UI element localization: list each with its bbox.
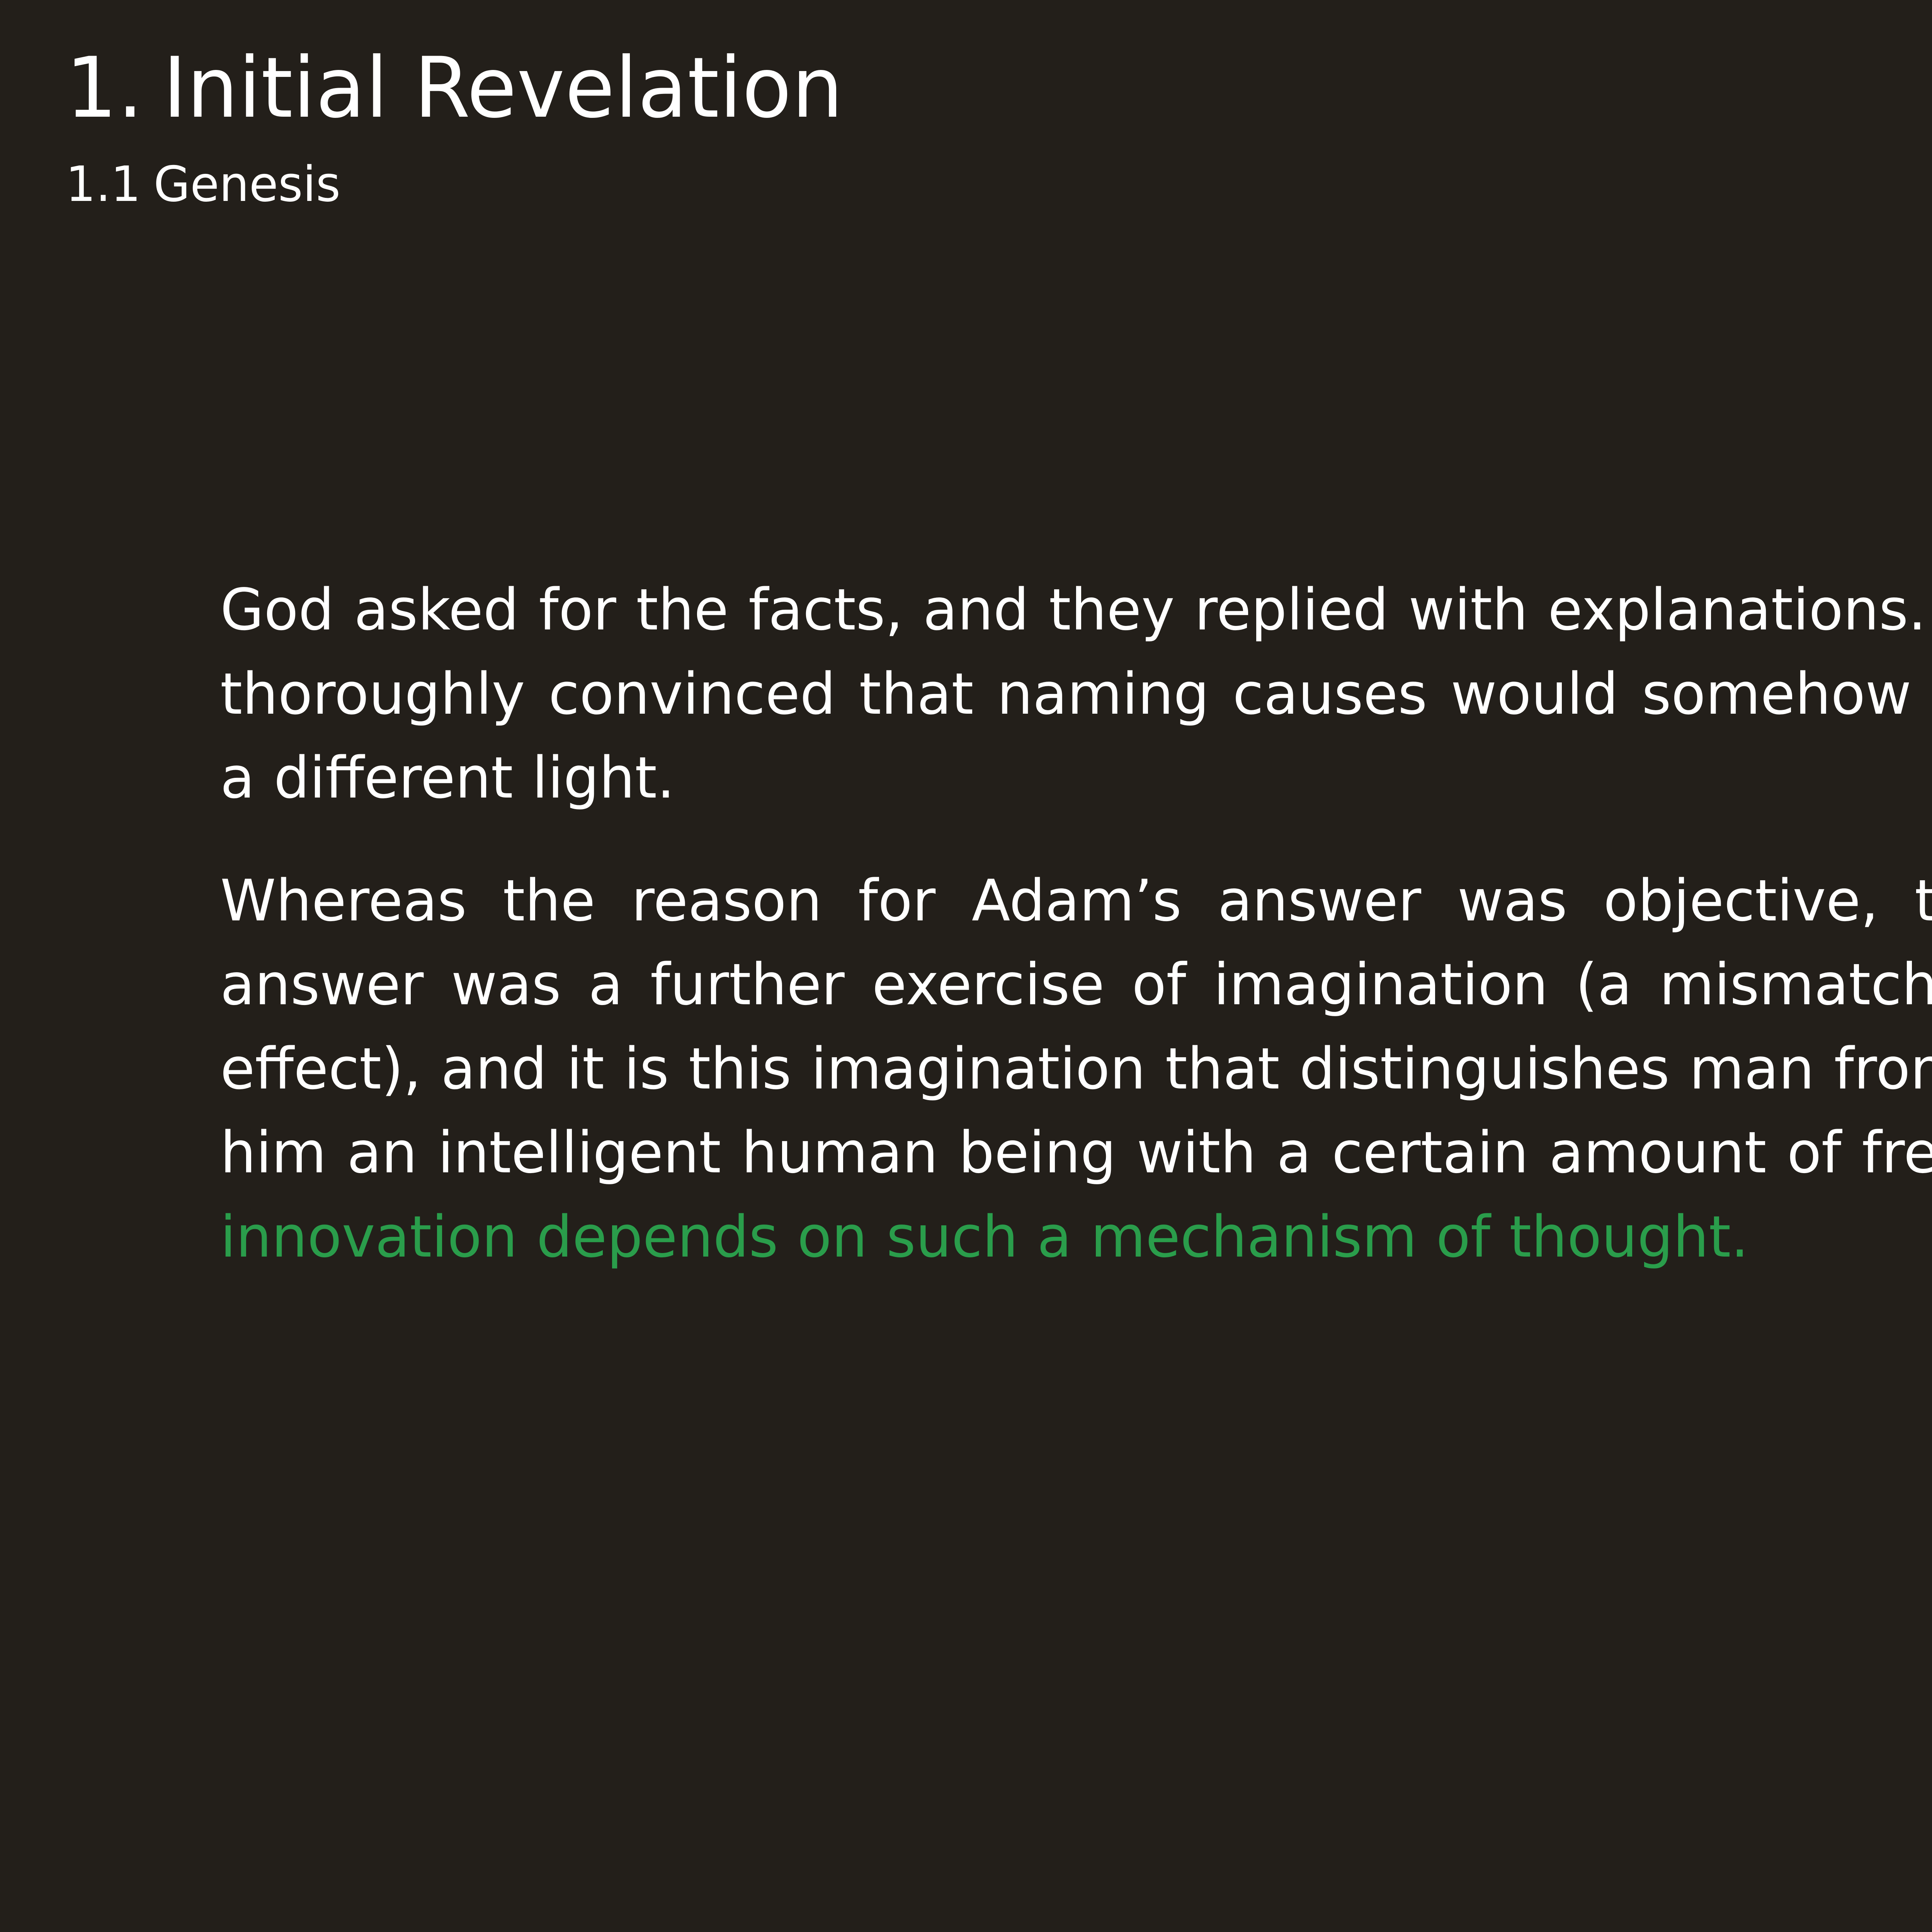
subsection-number: 1.1 <box>66 156 141 213</box>
body-paragraph-2: Whereas the reason for Adam’s answer was… <box>220 859 1932 1279</box>
slide-header: 1.Initial Revelation 1.1Genesis <box>66 46 1932 209</box>
section-number: 1. <box>66 39 143 136</box>
page-title: 1.Initial Revelation <box>66 46 1932 130</box>
slide-body: God asked for the facts, and they replie… <box>220 568 1932 1279</box>
body-paragraph-2-plain: Whereas the reason for Adam’s answer was… <box>220 867 1932 1186</box>
page-subtitle: 1.1Genesis <box>66 160 1932 209</box>
section-title: Initial Revelation <box>163 39 843 136</box>
body-paragraph-1: God asked for the facts, and they replie… <box>220 568 1932 820</box>
subsection-title: Genesis <box>153 156 340 213</box>
